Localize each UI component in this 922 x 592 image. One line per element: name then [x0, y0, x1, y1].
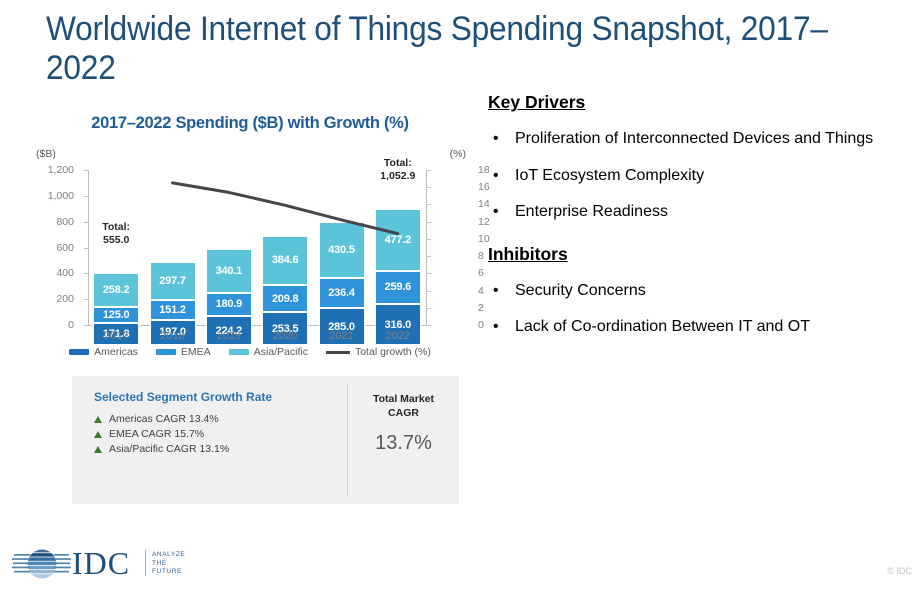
inhibitors-list: •Security Concerns•Lack of Co-ordination…: [488, 281, 913, 337]
legend-swatch: [156, 349, 176, 355]
inhibitors-block: Inhibitors •Security Concerns•Lack of Co…: [488, 244, 913, 337]
x-axis-label: 2022: [363, 330, 433, 342]
legend-label: Total growth (%): [355, 346, 431, 358]
bullet-icon: •: [493, 166, 499, 186]
chart-plot-area: 02004006008001,0001,200 024681012141618 …: [30, 170, 470, 345]
copyright-notice: © IDC: [887, 566, 912, 576]
key-drivers-list: •Proliferation of Interconnected Devices…: [488, 129, 913, 222]
tagline-line-1: ANALYZE: [152, 551, 185, 560]
bullet-icon: •: [493, 129, 499, 149]
triangle-up-icon: [94, 446, 102, 453]
segment-growth-text: Americas CAGR 13.4%: [109, 413, 219, 425]
idc-globe-icon: [12, 545, 72, 583]
segment-growth-text: Asia/Pacific CAGR 13.1%: [109, 443, 229, 455]
total-market-cagr-heading: Total Market CAGR: [348, 392, 459, 420]
total-market-cagr-value: 13.7%: [348, 432, 459, 455]
idc-logo: IDC ANALYZE THE FUTURE: [12, 544, 202, 584]
y-axis-unit-left: ($B): [36, 148, 56, 160]
chart-legend: AmericasEMEAAsia/PacificTotal growth (%): [30, 346, 470, 358]
idc-wordmark: IDC: [72, 546, 130, 580]
legend-item-growth-line[interactable]: Total growth (%): [326, 346, 431, 358]
total-annotation-value: 1,052.9: [360, 170, 436, 183]
segment-growth-row: Americas CAGR 13.4%: [94, 413, 347, 425]
total-cagr-line2: CAGR: [348, 406, 459, 420]
insights-column: Key Drivers •Proliferation of Interconne…: [488, 92, 913, 354]
key-drivers-block: Key Drivers •Proliferation of Interconne…: [488, 92, 913, 222]
inhibitor-item: •Security Concerns: [488, 281, 913, 301]
segment-growth-table: Selected Segment Growth Rate Americas CA…: [72, 376, 459, 504]
key-driver-item: •IoT Ecosystem Complexity: [488, 166, 913, 186]
bullet-icon: •: [493, 281, 499, 301]
legend-item[interactable]: EMEA: [156, 346, 211, 358]
tagline-line-3: FUTURE: [152, 568, 185, 577]
segment-growth-rows: Americas CAGR 13.4%EMEA CAGR 15.7%Asia/P…: [94, 413, 347, 455]
legend-line-swatch: [326, 351, 350, 354]
bullet-icon: •: [493, 317, 499, 337]
key-driver-item: •Proliferation of Interconnected Devices…: [488, 129, 913, 149]
segment-growth-row: Asia/Pacific CAGR 13.1%: [94, 443, 347, 455]
total-cagr-line1: Total Market: [348, 392, 459, 406]
segment-growth-row: EMEA CAGR 15.7%: [94, 428, 347, 440]
triangle-up-icon: [94, 416, 102, 423]
total-annotation: Total:555.0: [78, 221, 154, 247]
spending-chart: 2017–2022 Spending ($B) with Growth (%) …: [30, 110, 470, 380]
segment-growth-text: EMEA CAGR 15.7%: [109, 428, 204, 440]
segment-growth-heading: Selected Segment Growth Rate: [94, 390, 347, 404]
legend-swatch: [229, 349, 249, 355]
legend-swatch: [69, 349, 89, 355]
total-growth-line: [30, 170, 470, 345]
inhibitor-item-text: Security Concerns: [515, 282, 646, 299]
key-drivers-heading: Key Drivers: [488, 92, 585, 113]
inhibitors-heading: Inhibitors: [488, 244, 568, 265]
total-market-cagr: Total Market CAGR 13.7%: [348, 376, 459, 504]
triangle-up-icon: [94, 431, 102, 438]
chart-title: 2017–2022 Spending ($B) with Growth (%): [30, 110, 470, 133]
key-driver-item-text: Proliferation of Interconnected Devices …: [515, 130, 873, 147]
total-annotation-label: Total:: [360, 157, 436, 170]
legend-item[interactable]: Americas: [69, 346, 138, 358]
legend-item[interactable]: Asia/Pacific: [229, 346, 308, 358]
bullet-icon: •: [493, 202, 499, 222]
key-driver-item-text: IoT Ecosystem Complexity: [515, 167, 704, 184]
inhibitor-item-text: Lack of Co-ordination Between IT and OT: [515, 318, 810, 335]
tagline-line-2: THE: [152, 560, 185, 569]
key-driver-item: •Enterprise Readiness: [488, 202, 913, 222]
idc-tagline: ANALYZE THE FUTURE: [152, 551, 185, 577]
total-annotation-value: 555.0: [78, 234, 154, 247]
total-annotation: Total:1,052.9: [360, 157, 436, 183]
legend-label: Asia/Pacific: [254, 346, 308, 358]
legend-label: EMEA: [181, 346, 211, 358]
total-annotation-label: Total:: [78, 221, 154, 234]
legend-label: Americas: [94, 346, 138, 358]
segment-growth-left: Selected Segment Growth Rate Americas CA…: [72, 376, 347, 504]
y-axis-unit-right: (%): [450, 148, 466, 160]
logo-separator: [145, 550, 146, 576]
page-title: Worldwide Internet of Things Spending Sn…: [46, 10, 855, 89]
key-driver-item-text: Enterprise Readiness: [515, 203, 668, 220]
inhibitor-item: •Lack of Co-ordination Between IT and OT: [488, 317, 913, 337]
